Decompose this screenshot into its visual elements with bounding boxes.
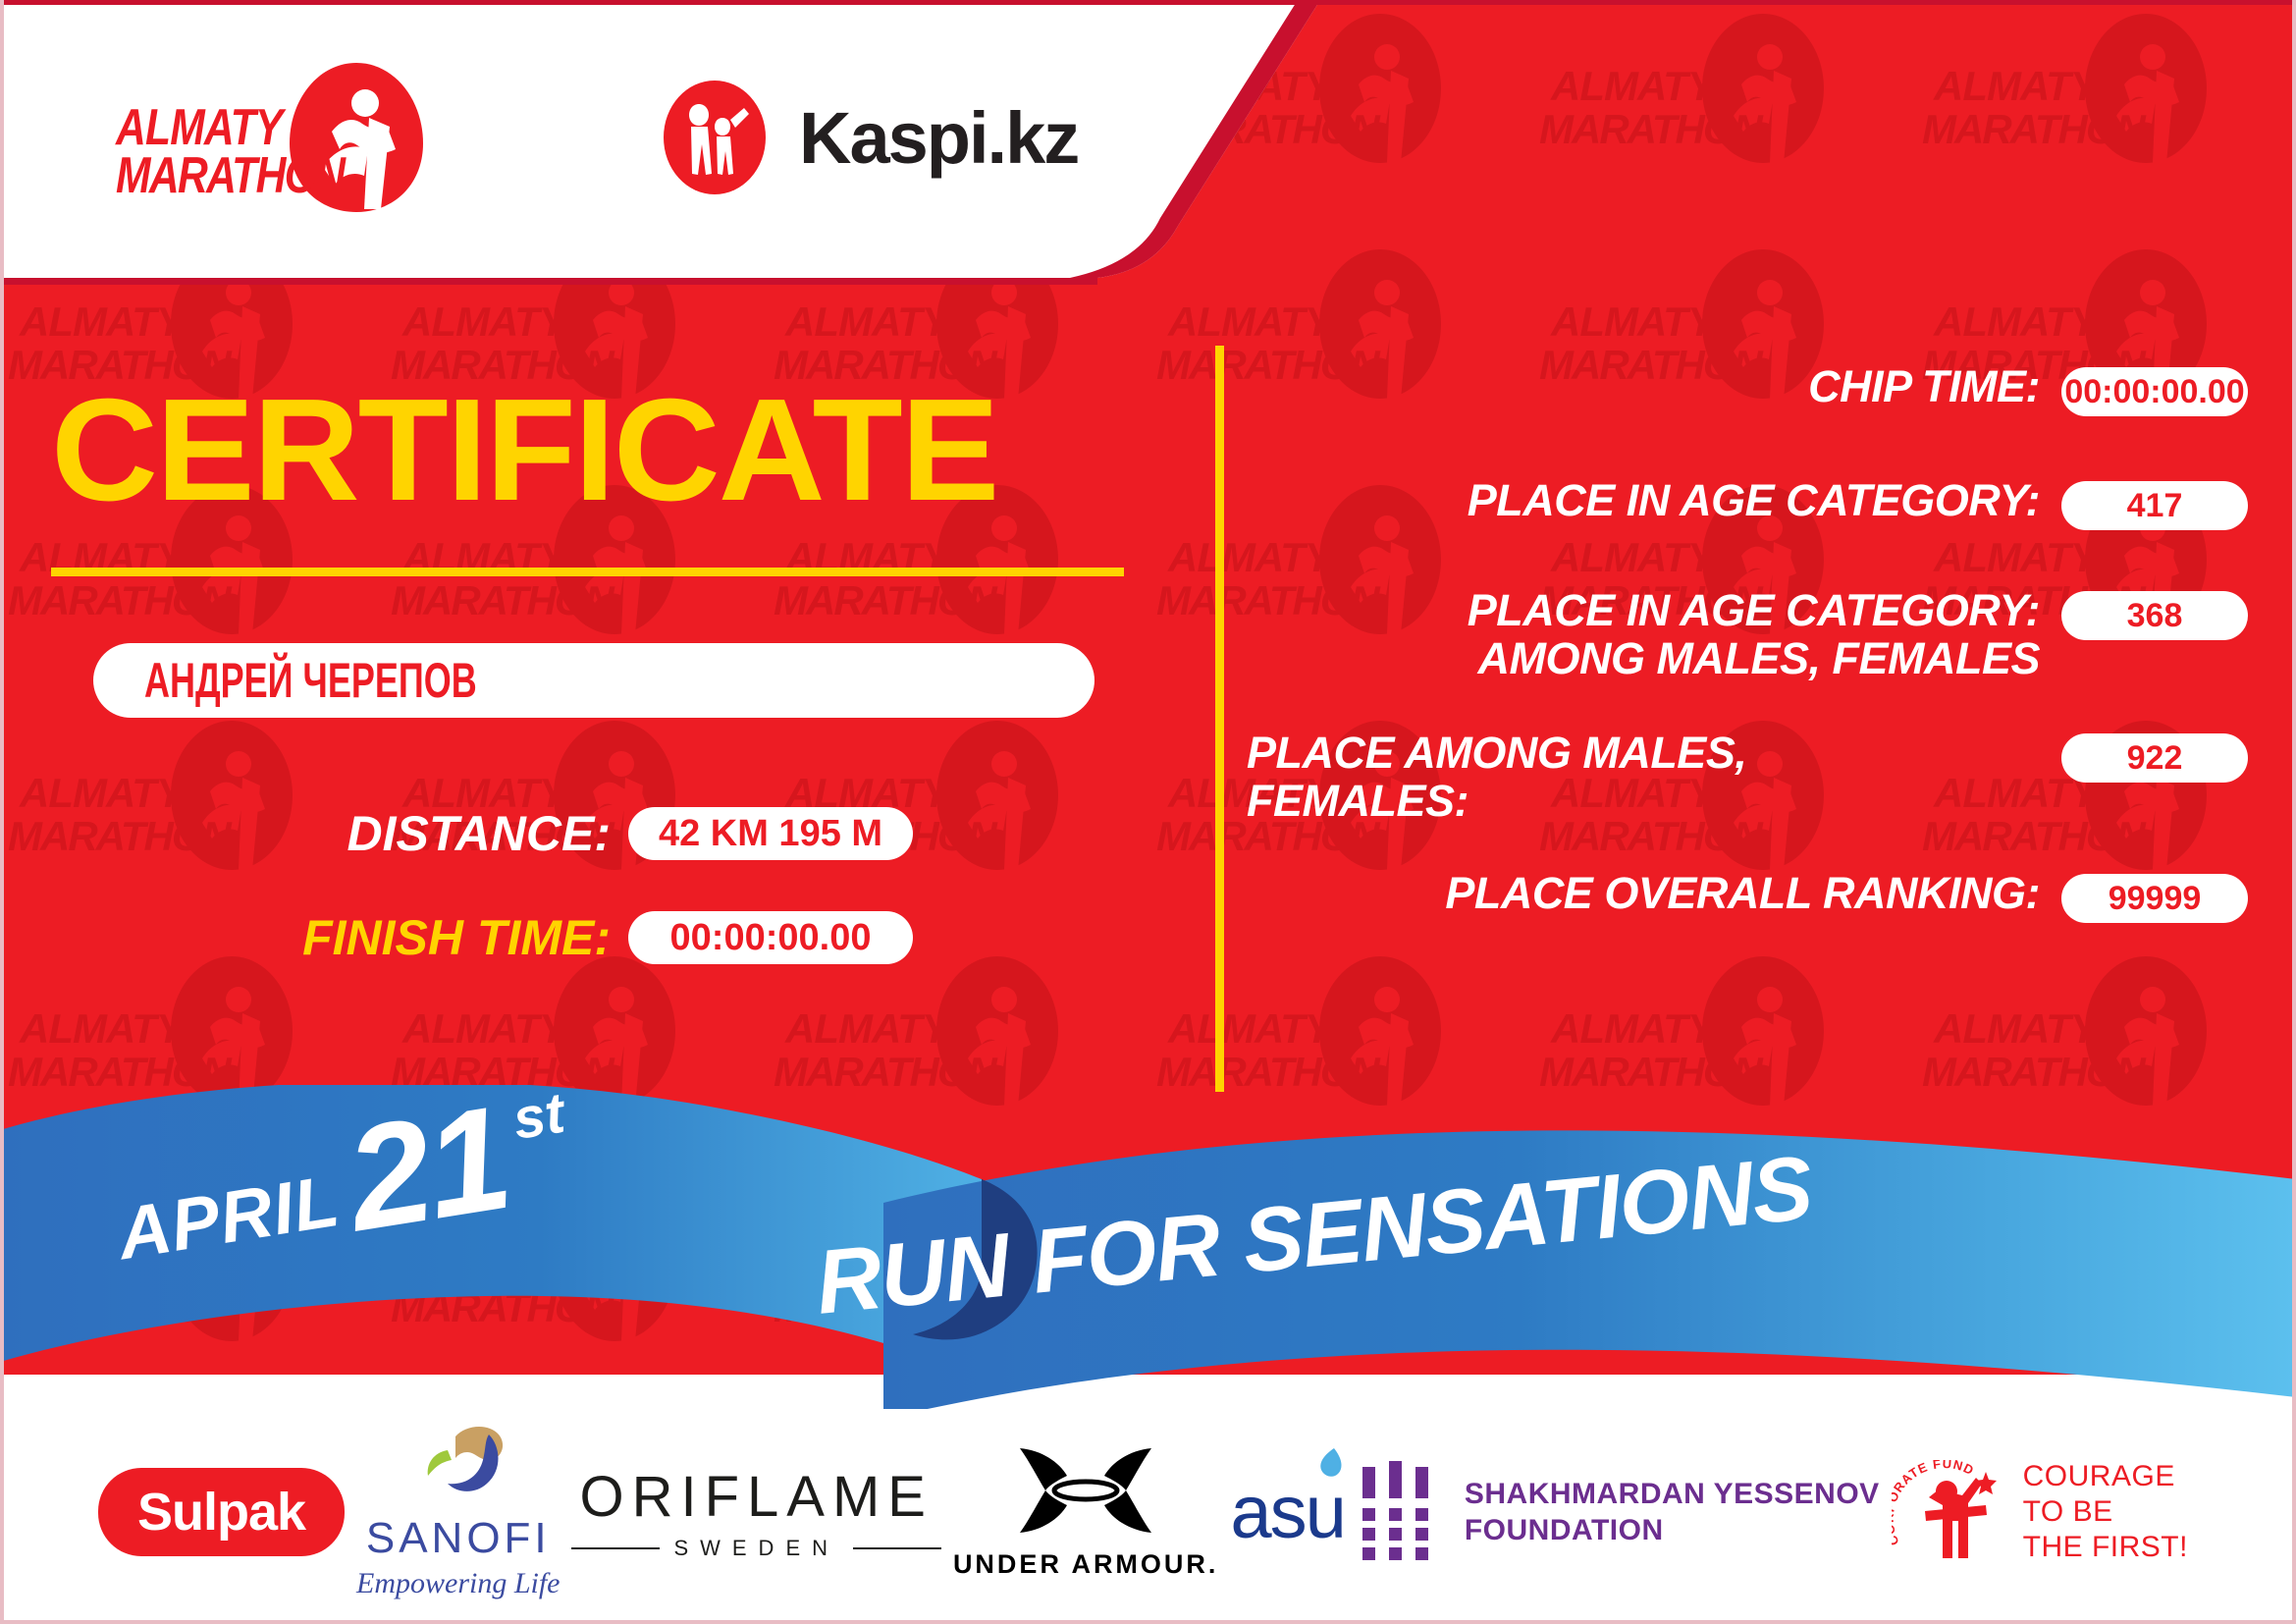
place-overall-row: PLACE OVERALL RANKING: 99999 [1247,870,2248,923]
finish-time-label: FINISH TIME: [302,910,611,965]
place-age-category-label: PLACE IN AGE CATEGORY: [1247,477,2061,525]
courage-line-2: TO BE [2023,1494,2188,1530]
place-age-category-value: 417 [2061,481,2248,530]
yessenov-bars-icon [1357,1461,1439,1563]
results-column: CHIP TIME: 00:00:00.00 PLACE IN AGE CATE… [1247,363,2248,923]
place-age-category-row: PLACE IN AGE CATEGORY: 417 [1247,477,2248,530]
oriflame-sub: SWEDEN [571,1536,941,1561]
label-line-1: PLACE AMONG MALES, [1247,730,2040,778]
place-age-category-gender-value: 368 [2061,591,2248,640]
sulpak-wordmark: Sulpak [98,1468,345,1556]
certificate-page: ALMATY MARATHON ALMATY MARATHON [0,0,2296,1624]
chip-time-value: 00:00:00.00 [2061,367,2248,416]
under-armour-wordmark: UNDER ARMOUR. [953,1549,1219,1580]
distance-value: 42 KM 195 M [628,807,913,860]
almaty-marathon-logo: ALMATY MARATHON [116,59,440,216]
place-among-gender-label: PLACE AMONG MALES, FEMALES: [1247,730,2061,825]
place-among-gender-row: PLACE AMONG MALES, FEMALES: 922 [1247,730,2248,825]
sponsor-sanofi: SANOFI Empowering Life [356,1425,561,1600]
logo-line-1: ALMATY [116,104,344,152]
chip-time-label: CHIP TIME: [1247,363,2061,411]
kaspi-wordmark: Kaspi.kz [799,96,1078,180]
corporate-fund-runner-icon: CORPORATE FUND [1892,1460,2009,1564]
place-age-category-gender-label: PLACE IN AGE CATEGORY: AMONG MALES, FEMA… [1247,587,2061,682]
athlete-name-value: АНДРЕЙ ЧЕРЕПОВ [144,652,477,709]
ribbon-day-suffix: st [508,1080,568,1153]
label-line-2: FEMALES: [1247,778,2040,826]
oriflame-wordmark: ORIFLAME [571,1464,941,1530]
page-title: CERTIFICATE [51,378,997,523]
courage-wordmark: COURAGE TO BE THE FIRST! [2023,1459,2188,1565]
sponsor-shakhmardan-yessenov-foundation: SHAKHMARDAN YESSENOV FOUNDATION [1357,1461,1880,1563]
frame-left [0,0,4,1624]
frame-right [2292,0,2296,1624]
place-overall-label: PLACE OVERALL RANKING: [1247,870,2061,918]
yessenov-wordmark: SHAKHMARDAN YESSENOV FOUNDATION [1465,1476,1880,1549]
chip-time-row: CHIP TIME: 00:00:00.00 [1247,363,2248,416]
finish-time-value: 00:00:00.00 [628,911,913,964]
finish-time-row: FINISH TIME: 00:00:00.00 [0,909,1119,966]
sponsor-asu: asu [1230,1470,1345,1555]
yessenov-line-2: FOUNDATION [1465,1512,1880,1549]
oriflame-sub-text: SWEDEN [673,1536,839,1561]
asu-drop-icon [1312,1446,1346,1489]
sanofi-wordmark: SANOFI [356,1514,561,1563]
sponsor-oriflame: ORIFLAME SWEDEN [571,1464,941,1561]
under-armour-icon [1012,1444,1159,1537]
frame-bottom [0,1620,2296,1624]
sponsor-courage-to-be-the-first: CORPORATE FUND COURAGE TO BE THE FIRST! [1892,1459,2188,1565]
distance-row: DISTANCE: 42 KM 195 M [0,805,1119,862]
courage-line-1: COURAGE [2023,1459,2188,1494]
title-underline [51,568,1124,576]
distance-label: DISTANCE: [347,806,611,861]
courage-line-3: THE FIRST! [2023,1530,2188,1565]
almaty-marathon-wordmark: ALMATY MARATHON [116,104,344,201]
column-divider [1215,346,1224,1092]
rule-right [853,1547,941,1549]
rule-left [571,1547,660,1549]
sponsor-bar: Sulpak SANOFI Empowering Life ORIFLAME S… [0,1404,2296,1620]
kaspi-people-icon [656,79,774,196]
sponsor-under-armour: UNDER ARMOUR. [953,1444,1219,1580]
yessenov-line-1: SHAKHMARDAN YESSENOV [1465,1476,1880,1513]
logo-line-2: MARATHON [116,152,344,200]
header-logos: ALMATY MARATHON Kaspi.kz [0,0,1227,275]
athlete-name-field: АНДРЕЙ ЧЕРЕПОВ [93,643,1095,718]
sponsor-sulpak: Sulpak [98,1468,345,1556]
sanofi-tagline: Empowering Life [356,1567,561,1600]
place-age-category-gender-row: PLACE IN AGE CATEGORY: AMONG MALES, FEMA… [1247,587,2248,682]
kaspi-logo: Kaspi.kz [656,79,1078,196]
left-details: DISTANCE: 42 KM 195 M FINISH TIME: 00:00… [0,805,1119,1013]
place-among-gender-value: 922 [2061,733,2248,783]
label-line-2: AMONG MALES, FEMALES [1247,635,2040,683]
frame-top [0,0,2296,5]
sanofi-mark-icon [404,1425,512,1505]
ribbon-day: 21 [341,1098,515,1239]
label-line-1: PLACE IN AGE CATEGORY: [1247,587,2040,635]
place-overall-value: 99999 [2061,874,2248,923]
